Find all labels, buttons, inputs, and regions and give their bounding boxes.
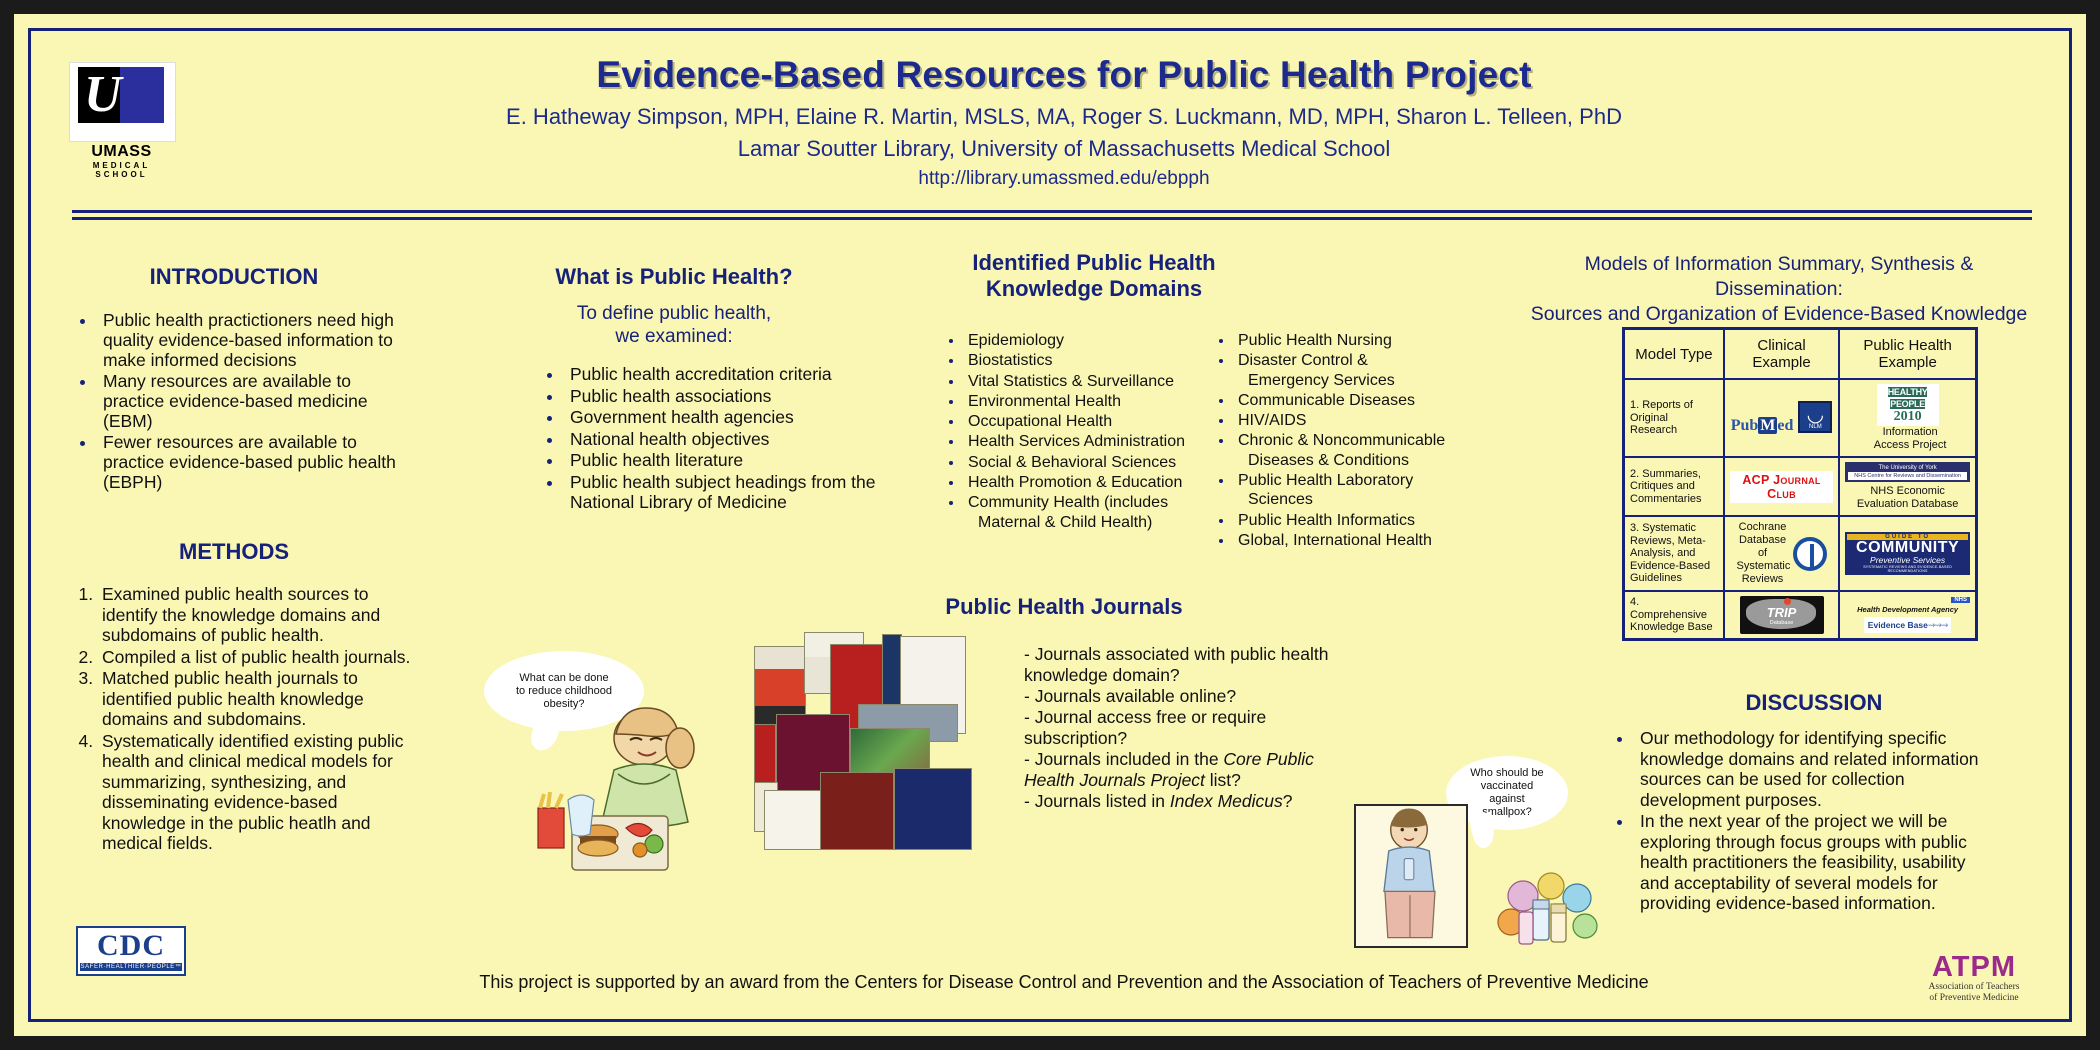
pubmed-logo: PubMed <box>1731 417 1794 435</box>
journal-covers-collage <box>754 632 1014 832</box>
model-type-cell: 2. Summaries, Critiques and Commentaries <box>1624 457 1724 516</box>
list-item: Environmental Health <box>964 392 1204 411</box>
examined-sources-list: Public health accreditation criteria Pub… <box>534 364 904 513</box>
list-item: Epidemiology <box>964 331 1204 350</box>
boy-illustration-frame <box>1354 804 1468 948</box>
list-item-text: Community Health (includes <box>968 494 1168 511</box>
list-item: National health objectives <box>564 429 904 450</box>
poster-header: Evidence-Based Resources for Public Heal… <box>314 54 1814 190</box>
model-type-cell: 4. Comprehensive Knowledge Base <box>1624 591 1724 640</box>
trip-dot-icon <box>1784 598 1791 605</box>
methods-section: Examined public health sources to identi… <box>64 584 424 855</box>
atpm-subtitle: Association of Teachers of Preventive Me… <box>1899 982 2049 1004</box>
list-item: Fewer resources are available to practic… <box>97 432 409 492</box>
umass-mark: U <box>69 62 176 142</box>
affiliation: Lamar Soutter Library, University of Mas… <box>314 136 1814 162</box>
introduction-section: Public health practictioners need high q… <box>69 310 409 493</box>
poster-canvas: U UMASS MEDICAL SCHOOL Evidence-Based Re… <box>0 0 2100 1050</box>
hp-line3: 2010 <box>1894 409 1922 424</box>
community-line3: SYSTEMATIC REVIEWS AND EVIDENCE-BASED RE… <box>1847 565 1968 573</box>
umass-u-letter: U <box>84 71 152 121</box>
list-item: Occupational Health <box>964 412 1204 431</box>
cochrane-label: Cochrane Database of Systematic Reviews <box>1737 521 1789 586</box>
table-row: 3. Systematic Reviews, Meta-Analysis, an… <box>1624 516 1977 591</box>
list-item: Government health agencies <box>564 407 904 428</box>
list-item: Health Promotion & Education <box>964 473 1204 492</box>
list-item: Communicable Diseases <box>1234 391 1494 410</box>
hda-title: Health Development Agency <box>1845 603 1970 614</box>
guide-to-community-preventive-services-logo: GUIDE TO COMMUNITY Preventive Services S… <box>1845 532 1970 575</box>
models-table: Model Type Clinical Example Public Healt… <box>1622 327 1978 641</box>
acp-journal-club-logo: ACP Journal Club <box>1730 471 1833 503</box>
list-item: - Journals associated with public health… <box>1024 644 1344 686</box>
what-is-public-health-section: Public health accreditation criteria Pub… <box>534 364 904 514</box>
list-item-continuation: Emergency Services <box>1238 371 1494 390</box>
cochrane-icon <box>1793 537 1827 571</box>
divider-line-bottom <box>72 217 2032 220</box>
girl-with-healthy-food-illustration <box>494 704 714 894</box>
umass-logo-line1: UMASS <box>69 143 174 161</box>
q4-suffix: list? <box>1205 770 1241 790</box>
speech-bubble-right-text: Who should be vaccinated against smallpo… <box>1466 763 1547 823</box>
community-line2: Preventive Services <box>1847 556 1968 565</box>
list-item: HIV/AIDS <box>1234 411 1494 430</box>
knowledge-domains-heading: Identified Public Health Knowledge Domai… <box>904 250 1284 302</box>
public-health-example-cell: The University of York NHS Centre for Re… <box>1839 457 1976 516</box>
public-health-example-cell: GUIDE TO COMMUNITY Preventive Services S… <box>1839 516 1976 591</box>
nhs-eed-label: NHS Economic Evaluation Database <box>1845 485 1970 511</box>
knowledge-domains-list-a: Epidemiology Biostatistics Vital Statist… <box>934 331 1204 532</box>
clinical-example-cell: ACP Journal Club <box>1724 457 1839 516</box>
list-item: Public health literature <box>564 450 904 471</box>
list-item: Systematically identified existing publi… <box>98 731 424 854</box>
information-access-project-label: Information Access Project <box>1874 426 1947 452</box>
clinical-example-cell: Cochrane Database of Systematic Reviews <box>1724 516 1839 591</box>
table-header-row: Model Type Clinical Example Public Healt… <box>1624 329 1977 380</box>
clinical-example-cell: PubMed◡NLM <box>1724 379 1839 457</box>
umass-medical-school-logo: U UMASS MEDICAL SCHOOL <box>69 62 174 172</box>
author-list: E. Hatheway Simpson, MPH, Elaine R. Mart… <box>314 104 1814 130</box>
table-row: 1. Reports of Original Research PubMed◡N… <box>1624 379 1977 457</box>
list-item: Many resources are available to practice… <box>97 371 409 431</box>
q5-italic: Index Medicus <box>1170 791 1283 811</box>
column-header-model-type: Model Type <box>1624 329 1724 380</box>
york-line1: The University of York <box>1878 465 1936 471</box>
introduction-list: Public health practictioners need high q… <box>69 310 409 492</box>
divider-line-top <box>72 210 2032 213</box>
umass-logo-line3: SCHOOL <box>69 170 174 179</box>
evidence-base-badge: Evidence Base⇝⇝⇝ <box>1864 617 1952 633</box>
list-item-continuation: Maternal & Child Health) <box>968 513 1204 532</box>
list-item: Public health practictioners need high q… <box>97 310 409 370</box>
trip-subtitle: Database <box>1740 620 1824 626</box>
list-item: Public health subject headings from the … <box>564 472 904 513</box>
methods-heading: METHODS <box>74 539 394 565</box>
atpm-letters: ATPM <box>1899 952 2049 982</box>
journal-cover <box>820 772 894 850</box>
cdc-letters: CDC <box>80 931 182 961</box>
list-item: Global, International Health <box>1234 531 1494 550</box>
list-item: Examined public health sources to identi… <box>98 584 424 646</box>
hp-line1: HEALTHY <box>1888 387 1928 397</box>
list-item: Social & Behavioral Sciences <box>964 453 1204 472</box>
list-item: Chronic & Noncommunicable Diseases & Con… <box>1234 431 1494 470</box>
list-item: Compiled a list of public health journal… <box>98 647 424 668</box>
model-type-cell: 3. Systematic Reviews, Meta-Analysis, an… <box>1624 516 1724 591</box>
atpm-logo: ATPM Association of Teachers of Preventi… <box>1899 952 2049 1004</box>
table-row: 2. Summaries, Critiques and Commentaries… <box>1624 457 1977 516</box>
list-item-continuation: Diseases & Conditions <box>1238 451 1494 470</box>
list-item: Matched public health journals to identi… <box>98 668 424 730</box>
nlm-icon: ◡NLM <box>1798 401 1832 433</box>
table-row: 4. Comprehensive Knowledge Base TRIP Dat… <box>1624 591 1977 640</box>
trip-database-logo: TRIP Database <box>1740 596 1824 634</box>
boy-illustration <box>1356 806 1462 942</box>
q4-prefix: - Journals included in the <box>1024 749 1223 769</box>
trip-title: TRIP <box>1767 605 1797 620</box>
list-item: Public health associations <box>564 386 904 407</box>
models-heading: Models of Information Summary, Synthesis… <box>1524 252 2034 327</box>
list-item: - Journal access free or require subscri… <box>1024 707 1344 749</box>
list-item: Public Health Informatics <box>1234 511 1494 530</box>
discussion-section: Our methodology for identifying specific… <box>1604 728 1984 915</box>
vaccine-vials-illustration <box>1489 864 1609 954</box>
public-health-example-cell: NHS Health Development Agency Evidence B… <box>1839 591 1976 640</box>
list-item: Community Health (includes Maternal & Ch… <box>964 493 1204 532</box>
public-health-example-cell: HEALTHY PEOPLE 2010 Information Access P… <box>1839 379 1976 457</box>
header-divider <box>72 210 2032 220</box>
health-development-agency-logo: NHS Health Development Agency Evidence B… <box>1845 597 1970 633</box>
list-item-text: Public Health Laboratory <box>1238 472 1413 489</box>
umass-logo-line2: MEDICAL <box>69 161 174 170</box>
journals-heading: Public Health Journals <box>864 594 1264 620</box>
hp-line2: PEOPLE <box>1890 399 1925 409</box>
project-url[interactable]: http://library.umassmed.edu/ebpph <box>314 168 1814 190</box>
cdc-logo-box: CDC SAFER·HEALTHIER·PEOPLE™ <box>76 926 186 976</box>
list-item: Public health accreditation criteria <box>564 364 904 385</box>
clinical-example-cell: TRIP Database <box>1724 591 1839 640</box>
list-item: Public Health Nursing <box>1234 331 1494 350</box>
community-line1: COMMUNITY <box>1847 540 1968 556</box>
knowledge-domains-column-b: Public Health Nursing Disaster Control &… <box>1204 331 1494 551</box>
methods-list: Examined public health sources to identi… <box>64 584 424 854</box>
page-title: Evidence-Based Resources for Public Heal… <box>314 54 1814 96</box>
list-item: Biostatistics <box>964 351 1204 370</box>
list-item: Public Health Laboratory Sciences <box>1234 471 1494 510</box>
list-item: Health Services Administration <box>964 432 1204 451</box>
cdc-tagline: SAFER·HEALTHIER·PEOPLE™ <box>80 963 182 971</box>
funding-statement: This project is supported by an award fr… <box>314 972 1814 993</box>
introduction-heading: INTRODUCTION <box>74 264 394 290</box>
journals-questions-list: - Journals associated with public health… <box>1024 644 1344 812</box>
list-item-continuation: Sciences <box>1238 490 1494 509</box>
column-header-public-health-example: Public Health Example <box>1839 329 1976 380</box>
list-item: Our methodology for identifying specific… <box>1634 728 1984 810</box>
journal-cover <box>764 790 824 850</box>
q5-suffix: ? <box>1283 791 1293 811</box>
list-item: Vital Statistics & Surveillance <box>964 372 1204 391</box>
list-item-text: Disaster Control & <box>1238 352 1368 369</box>
list-item: - Journals available online? <box>1024 686 1344 707</box>
discussion-heading: DISCUSSION <box>1664 690 1964 716</box>
list-item: In the next year of the project we will … <box>1634 811 1984 914</box>
column-header-clinical-example: Clinical Example <box>1724 329 1839 380</box>
nhs-badge: NHS <box>1951 597 1970 603</box>
journal-cover <box>894 768 972 850</box>
york-nhs-crd-logo: The University of York NHS Centre for Re… <box>1845 462 1970 482</box>
model-type-cell: 1. Reports of Original Research <box>1624 379 1724 457</box>
list-item: - Journals included in the Core Public H… <box>1024 749 1344 791</box>
knowledge-domains-column-a: Epidemiology Biostatistics Vital Statist… <box>934 331 1204 533</box>
york-line2: NHS Centre for Reviews and Dissemination <box>1848 472 1967 480</box>
trip-label: TRIP Database <box>1740 605 1824 626</box>
list-item-text: Chronic & Noncommunicable <box>1238 432 1445 449</box>
discussion-list: Our methodology for identifying specific… <box>1604 728 1984 914</box>
arrows-icon: ⇝⇝⇝ <box>1928 620 1948 631</box>
q5-prefix: - Journals listed in <box>1024 791 1170 811</box>
what-is-public-health-heading: What is Public Health? <box>504 264 844 290</box>
list-item: Disaster Control & Emergency Services <box>1234 351 1494 390</box>
knowledge-domains-list-b: Public Health Nursing Disaster Control &… <box>1204 331 1494 550</box>
what-is-public-health-subheading: To define public health, we examined: <box>504 302 844 348</box>
healthy-people-2010-icon: HEALTHY PEOPLE 2010 <box>1877 384 1939 426</box>
evidence-base-label: Evidence Base <box>1868 620 1928 630</box>
cdc-logo: CDC SAFER·HEALTHIER·PEOPLE™ <box>76 926 186 976</box>
list-item: - Journals listed in Index Medicus? <box>1024 791 1344 812</box>
